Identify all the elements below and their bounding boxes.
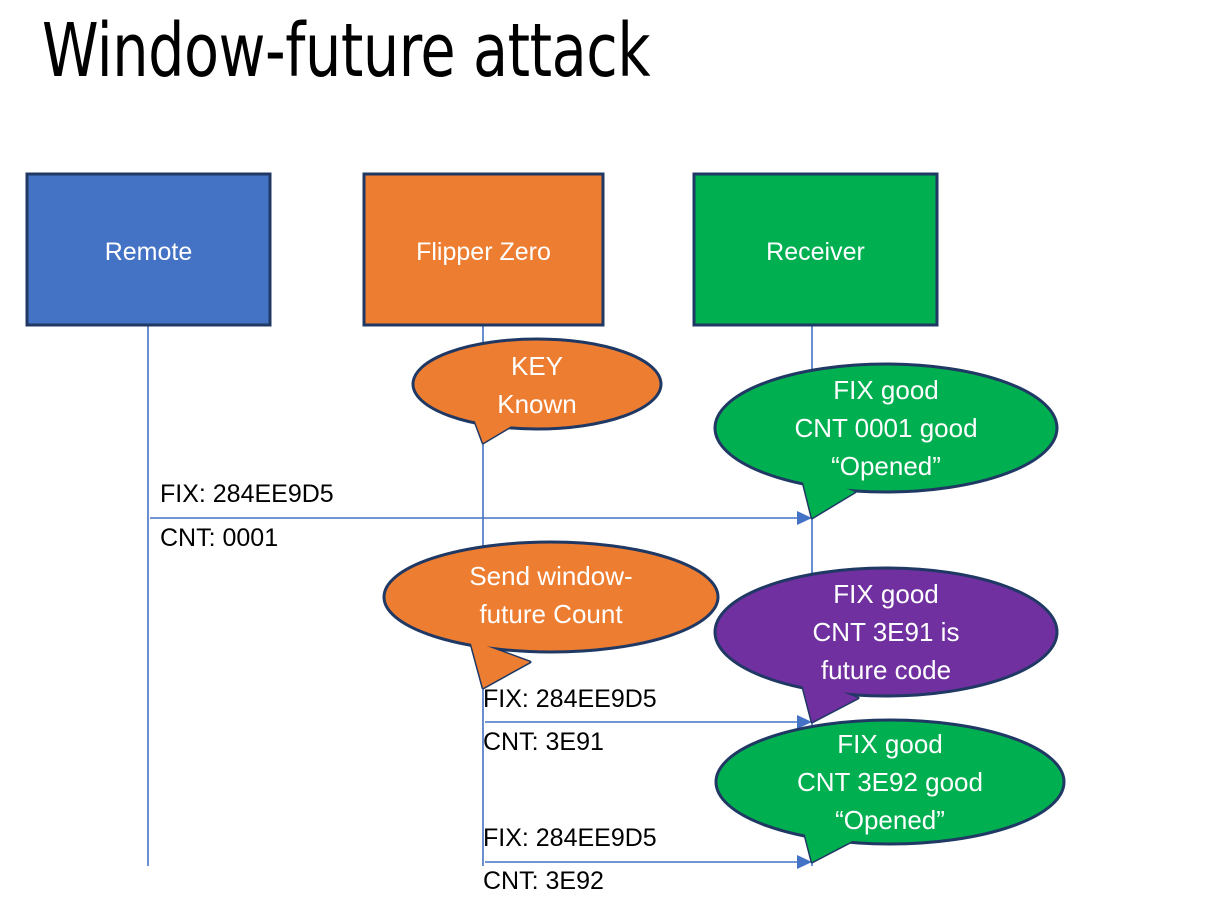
message-1-fix-label: FIX: 284EE9D5 bbox=[160, 480, 334, 509]
callout-shape-key-known[interactable] bbox=[413, 339, 661, 443]
message-2-fix-label: FIX: 284EE9D5 bbox=[483, 685, 657, 714]
diagram-vector-layer bbox=[0, 0, 1216, 898]
callout-shape-fix-good-cnt-3e92[interactable] bbox=[716, 720, 1064, 862]
slide-canvas: Window-future attack Remote Flipper Zero… bbox=[0, 0, 1216, 898]
callout-shape-send-window-future-count[interactable] bbox=[384, 542, 718, 688]
actor-box-flipper[interactable] bbox=[364, 174, 603, 325]
callout-shape-fix-good-cnt-0001[interactable] bbox=[715, 364, 1057, 518]
callout-shape-fix-good-cnt-3e91-future[interactable] bbox=[715, 568, 1057, 722]
actor-box-remote[interactable] bbox=[27, 174, 270, 325]
message-2-cnt-label: CNT: 3E91 bbox=[483, 728, 604, 757]
message-3-fix-label: FIX: 284EE9D5 bbox=[483, 824, 657, 853]
actor-box-receiver[interactable] bbox=[694, 174, 937, 325]
page-title: Window-future attack bbox=[42, 8, 650, 94]
message-3-cnt-label: CNT: 3E92 bbox=[483, 867, 604, 896]
message-1-cnt-label: CNT: 0001 bbox=[160, 524, 278, 553]
